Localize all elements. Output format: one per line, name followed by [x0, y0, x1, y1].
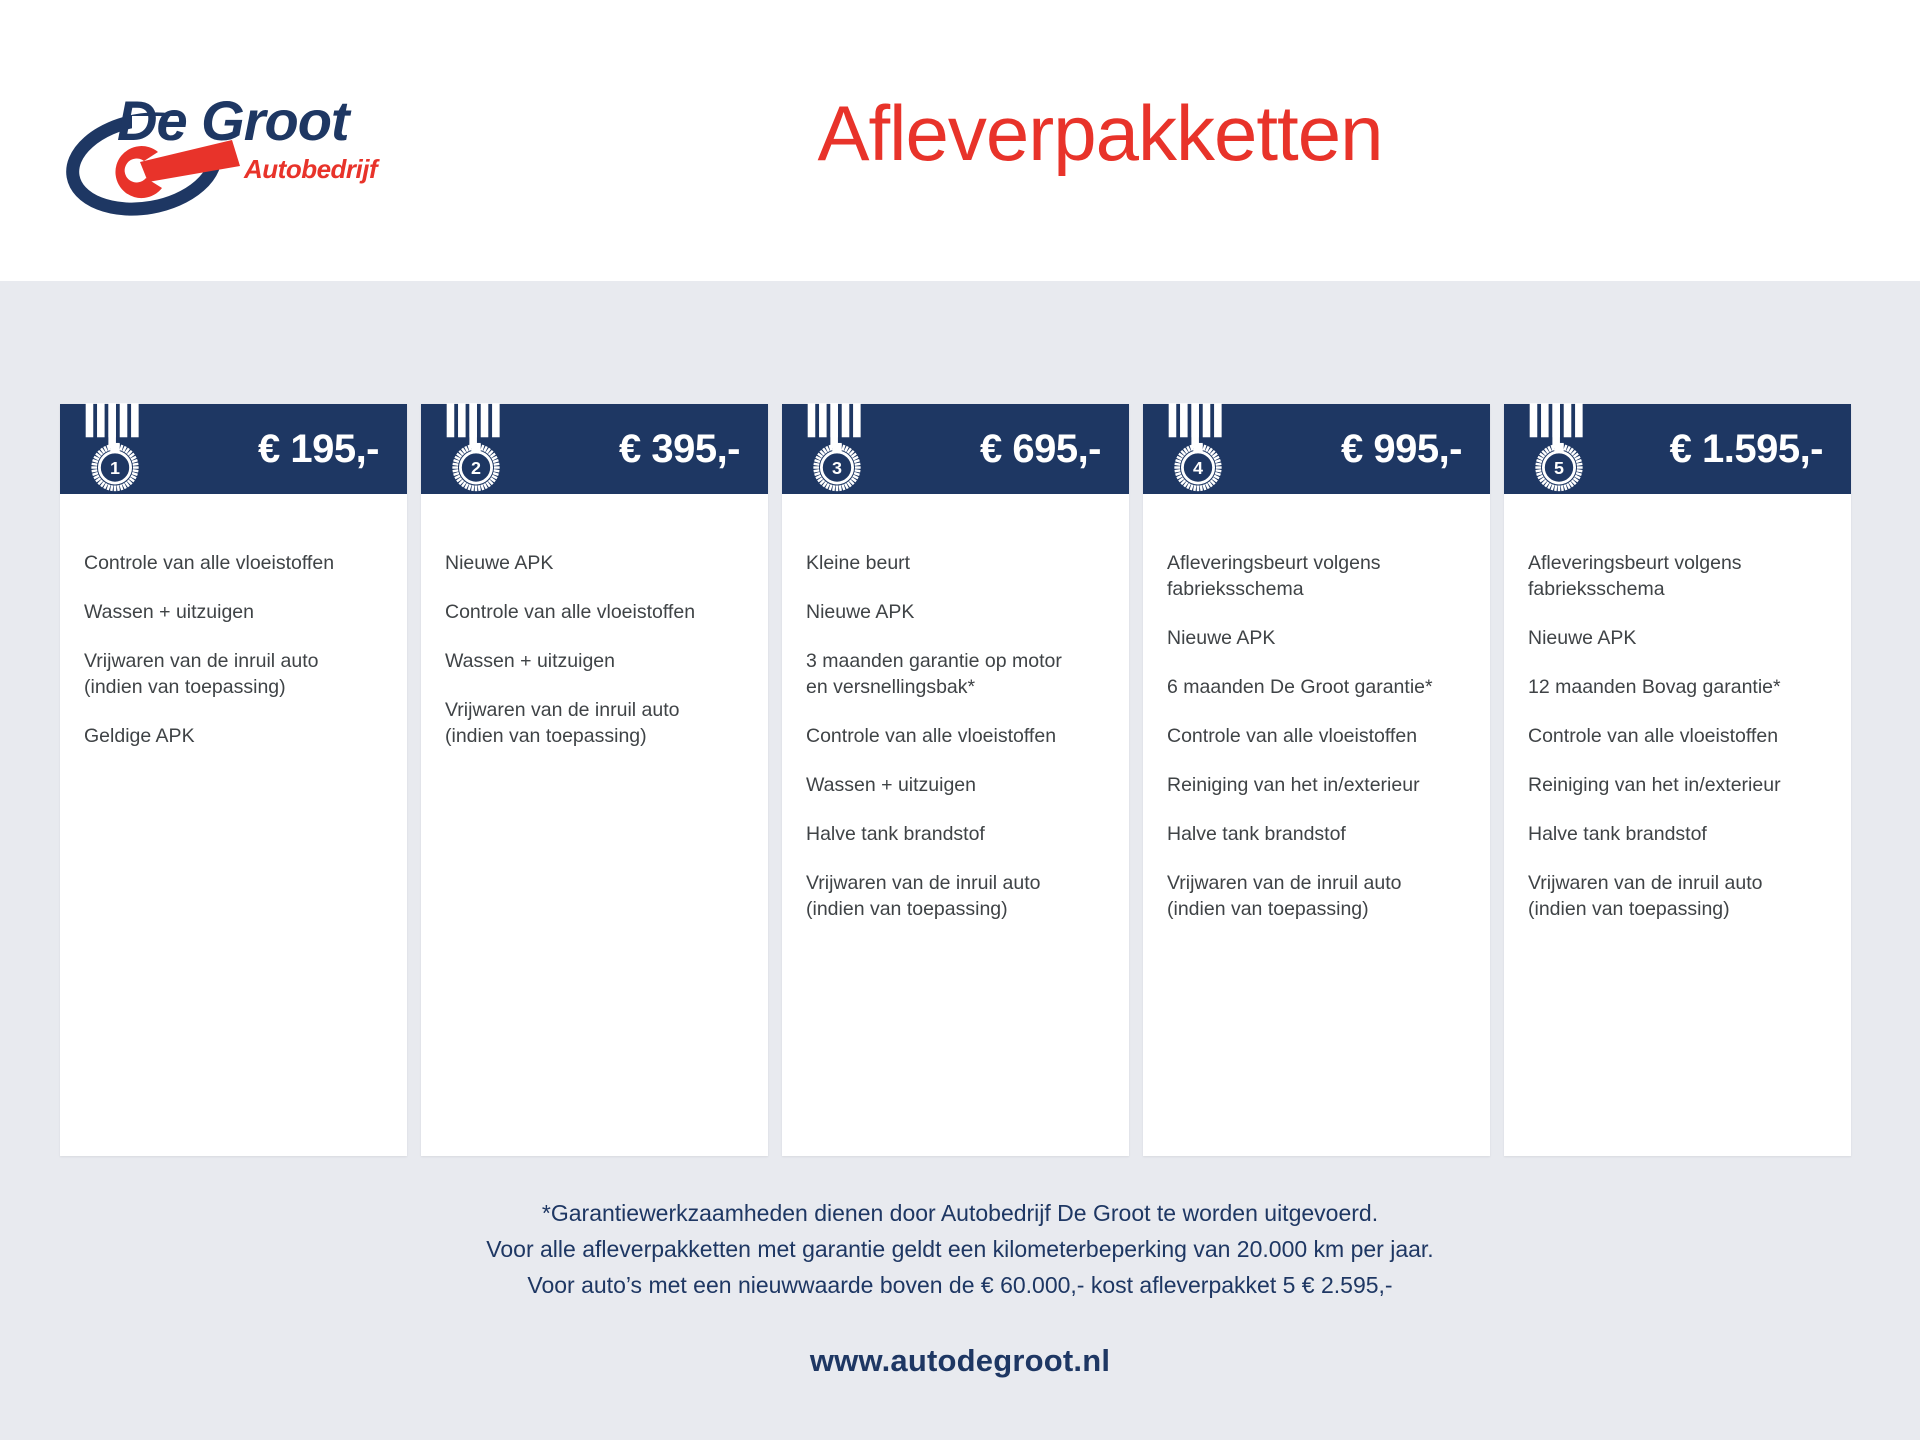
package-feature-item: Vrijwaren van de inruil auto(indien van … [1167, 870, 1467, 922]
svg-text:5: 5 [1554, 458, 1564, 478]
package-card[interactable]: 1€ 195,-Controle van alle vloeistoffenWa… [60, 404, 407, 1156]
package-card[interactable]: 5€ 1.595,-Afleveringsbeurt volgensfabrie… [1504, 404, 1851, 1156]
svg-text:De Groot: De Groot [117, 89, 352, 152]
medal-ribbon-icon: 3 [800, 390, 874, 494]
package-feature-item: Vrijwaren van de inruil auto(indien van … [1528, 870, 1828, 922]
package-price: € 695,- [980, 427, 1101, 472]
company-logo: De Groot Autobedrijf [62, 78, 462, 218]
svg-text:2: 2 [471, 458, 481, 478]
package-feature-item: Wassen + uitzuigen [84, 599, 384, 625]
package-feature-item: Wassen + uitzuigen [806, 772, 1106, 798]
package-feature-item: Vrijwaren van de inruil auto(indien van … [445, 697, 745, 749]
medal-ribbon-icon: 1 [78, 390, 152, 494]
package-feature-item: Kleine beurt [806, 550, 1106, 576]
page-title: Afleverpakketten [500, 88, 1700, 179]
package-feature-item: Nieuwe APK [1167, 625, 1467, 651]
package-feature-item: Controle van alle vloeistoffen [1528, 723, 1828, 749]
package-feature-item: Wassen + uitzuigen [445, 648, 745, 674]
package-feature-item: Halve tank brandstof [1167, 821, 1467, 847]
package-card-header: 3€ 695,- [782, 404, 1129, 494]
footnote-line: *Garantiewerkzaamheden dienen door Autob… [0, 1195, 1920, 1231]
package-feature-item: Vrijwaren van de inruil auto(indien van … [806, 870, 1106, 922]
package-feature-item: Afleveringsbeurt volgensfabrieksschema [1167, 550, 1467, 602]
package-feature-item: Vrijwaren van de inruil auto(indien van … [84, 648, 384, 700]
package-card-header: 5€ 1.595,- [1504, 404, 1851, 494]
package-card[interactable]: 2€ 395,-Nieuwe APKControle van alle vloe… [421, 404, 768, 1156]
package-feature-item: Controle van alle vloeistoffen [84, 550, 384, 576]
package-card[interactable]: 3€ 695,-Kleine beurtNieuwe APK3 maanden … [782, 404, 1129, 1156]
package-feature-list: Kleine beurtNieuwe APK3 maanden garantie… [782, 494, 1129, 1156]
package-feature-item: Reiniging van het in/exterieur [1167, 772, 1467, 798]
package-feature-item: 12 maanden Bovag garantie* [1528, 674, 1828, 700]
package-feature-item: Controle van alle vloeistoffen [806, 723, 1106, 749]
svg-text:Autobedrijf: Autobedrijf [243, 154, 380, 184]
package-price: € 395,- [619, 427, 740, 472]
package-card-header: 2€ 395,- [421, 404, 768, 494]
package-feature-item: Nieuwe APK [445, 550, 745, 576]
svg-text:3: 3 [832, 458, 842, 478]
svg-text:1: 1 [110, 458, 120, 478]
medal-ribbon-icon: 5 [1522, 390, 1596, 494]
package-card-list: 1€ 195,-Controle van alle vloeistoffenWa… [60, 404, 1862, 1156]
header-band: De Groot Autobedrijf Afleverpakketten [0, 0, 1920, 281]
medal-ribbon-icon: 2 [439, 390, 513, 494]
package-feature-item: Afleveringsbeurt volgensfabrieksschema [1528, 550, 1828, 602]
footnote-block: *Garantiewerkzaamheden dienen door Autob… [0, 1195, 1920, 1303]
de-groot-swoosh-logo: De Groot Autobedrijf [62, 78, 462, 218]
package-price: € 195,- [258, 427, 379, 472]
package-price: € 1.595,- [1670, 427, 1823, 472]
footnote-line: Voor auto’s met een nieuwwaarde boven de… [0, 1267, 1920, 1303]
package-feature-item: Halve tank brandstof [806, 821, 1106, 847]
package-feature-item: Geldige APK [84, 723, 384, 749]
package-feature-item: Controle van alle vloeistoffen [1167, 723, 1467, 749]
package-feature-item: Reiniging van het in/exterieur [1528, 772, 1828, 798]
package-feature-item: Controle van alle vloeistoffen [445, 599, 745, 625]
footnote-line: Voor alle afleverpakketten met garantie … [0, 1231, 1920, 1267]
website-url[interactable]: www.autodegroot.nl [0, 1343, 1920, 1379]
svg-text:4: 4 [1193, 458, 1203, 478]
medal-ribbon-icon: 4 [1161, 390, 1235, 494]
package-feature-item: Nieuwe APK [806, 599, 1106, 625]
package-feature-list: Nieuwe APKControle van alle vloeistoffen… [421, 494, 768, 1156]
package-card[interactable]: 4€ 995,-Afleveringsbeurt volgensfabrieks… [1143, 404, 1490, 1156]
package-feature-item: 3 maanden garantie op motoren versnellin… [806, 648, 1106, 700]
package-feature-list: Controle van alle vloeistoffenWassen + u… [60, 494, 407, 1156]
package-card-header: 4€ 995,- [1143, 404, 1490, 494]
package-feature-list: Afleveringsbeurt volgensfabrieksschemaNi… [1504, 494, 1851, 1156]
package-card-header: 1€ 195,- [60, 404, 407, 494]
package-feature-item: 6 maanden De Groot garantie* [1167, 674, 1467, 700]
poster-root: De Groot Autobedrijf Afleverpakketten 1€… [0, 0, 1920, 1440]
package-feature-item: Halve tank brandstof [1528, 821, 1828, 847]
package-feature-list: Afleveringsbeurt volgensfabrieksschemaNi… [1143, 494, 1490, 1156]
package-feature-item: Nieuwe APK [1528, 625, 1828, 651]
package-price: € 995,- [1341, 427, 1462, 472]
